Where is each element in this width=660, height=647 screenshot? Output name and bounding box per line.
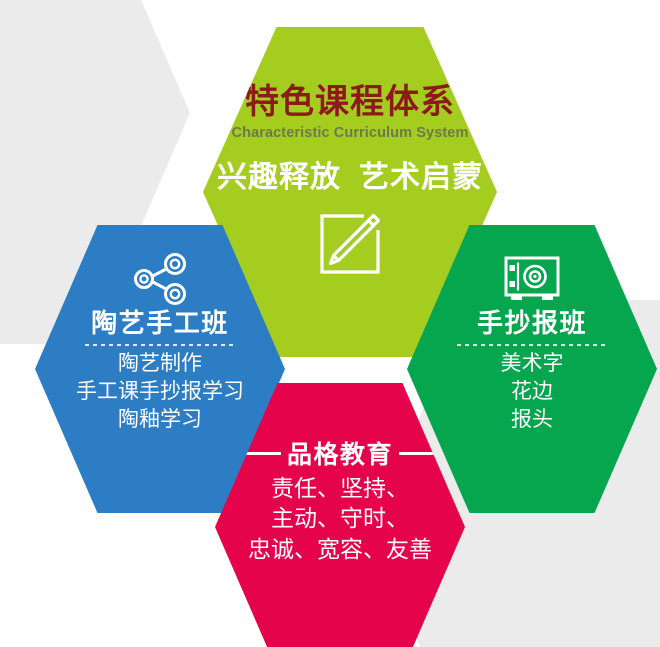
card-divider-pottery	[85, 344, 235, 346]
card-title-character-education: 品格教育	[241, 435, 439, 471]
hero-title-chinese: 特色课程体系	[245, 85, 455, 121]
card-line: 美术字	[501, 350, 564, 378]
infographic-canvas: 特色课程体系 Characteristic Curriculum System …	[0, 0, 660, 647]
card-line: 陶艺制作	[76, 350, 244, 378]
card-lines-character-education: 责任、坚持、 主动、守时、 忠诚、宽容、友善	[248, 473, 432, 564]
card-lines-newspaper: 美术字 花边 报头	[501, 350, 564, 434]
card-line: 陶釉学习	[76, 406, 244, 434]
card-line: 报头	[501, 406, 564, 434]
pencil-square-icon	[316, 210, 384, 283]
hero-slogan-part2: 艺术启蒙	[359, 161, 483, 194]
card-line: 花边	[501, 378, 564, 406]
card-title-pottery: 陶艺手工班	[91, 309, 229, 339]
card-line: 主动、守时、	[248, 503, 432, 533]
card-line: 忠诚、宽容、友善	[248, 534, 432, 564]
card-line: 手工课手抄报学习	[76, 378, 244, 406]
share-network-icon	[131, 253, 189, 305]
hero-slogan: 兴趣释放艺术启蒙	[217, 152, 483, 196]
safe-vault-icon	[502, 253, 562, 305]
card-title-newspaper: 手抄报班	[477, 309, 587, 339]
card-lines-pottery: 陶艺制作 手工课手抄报学习 陶釉学习	[76, 350, 244, 434]
card-title-text: 品格教育	[287, 435, 393, 471]
hero-title-english: Characteristic Curriculum System	[232, 125, 469, 141]
card-line: 责任、坚持、	[248, 473, 432, 503]
card-divider-newspaper	[457, 344, 607, 346]
hero-slogan-part1: 兴趣释放	[217, 161, 341, 194]
